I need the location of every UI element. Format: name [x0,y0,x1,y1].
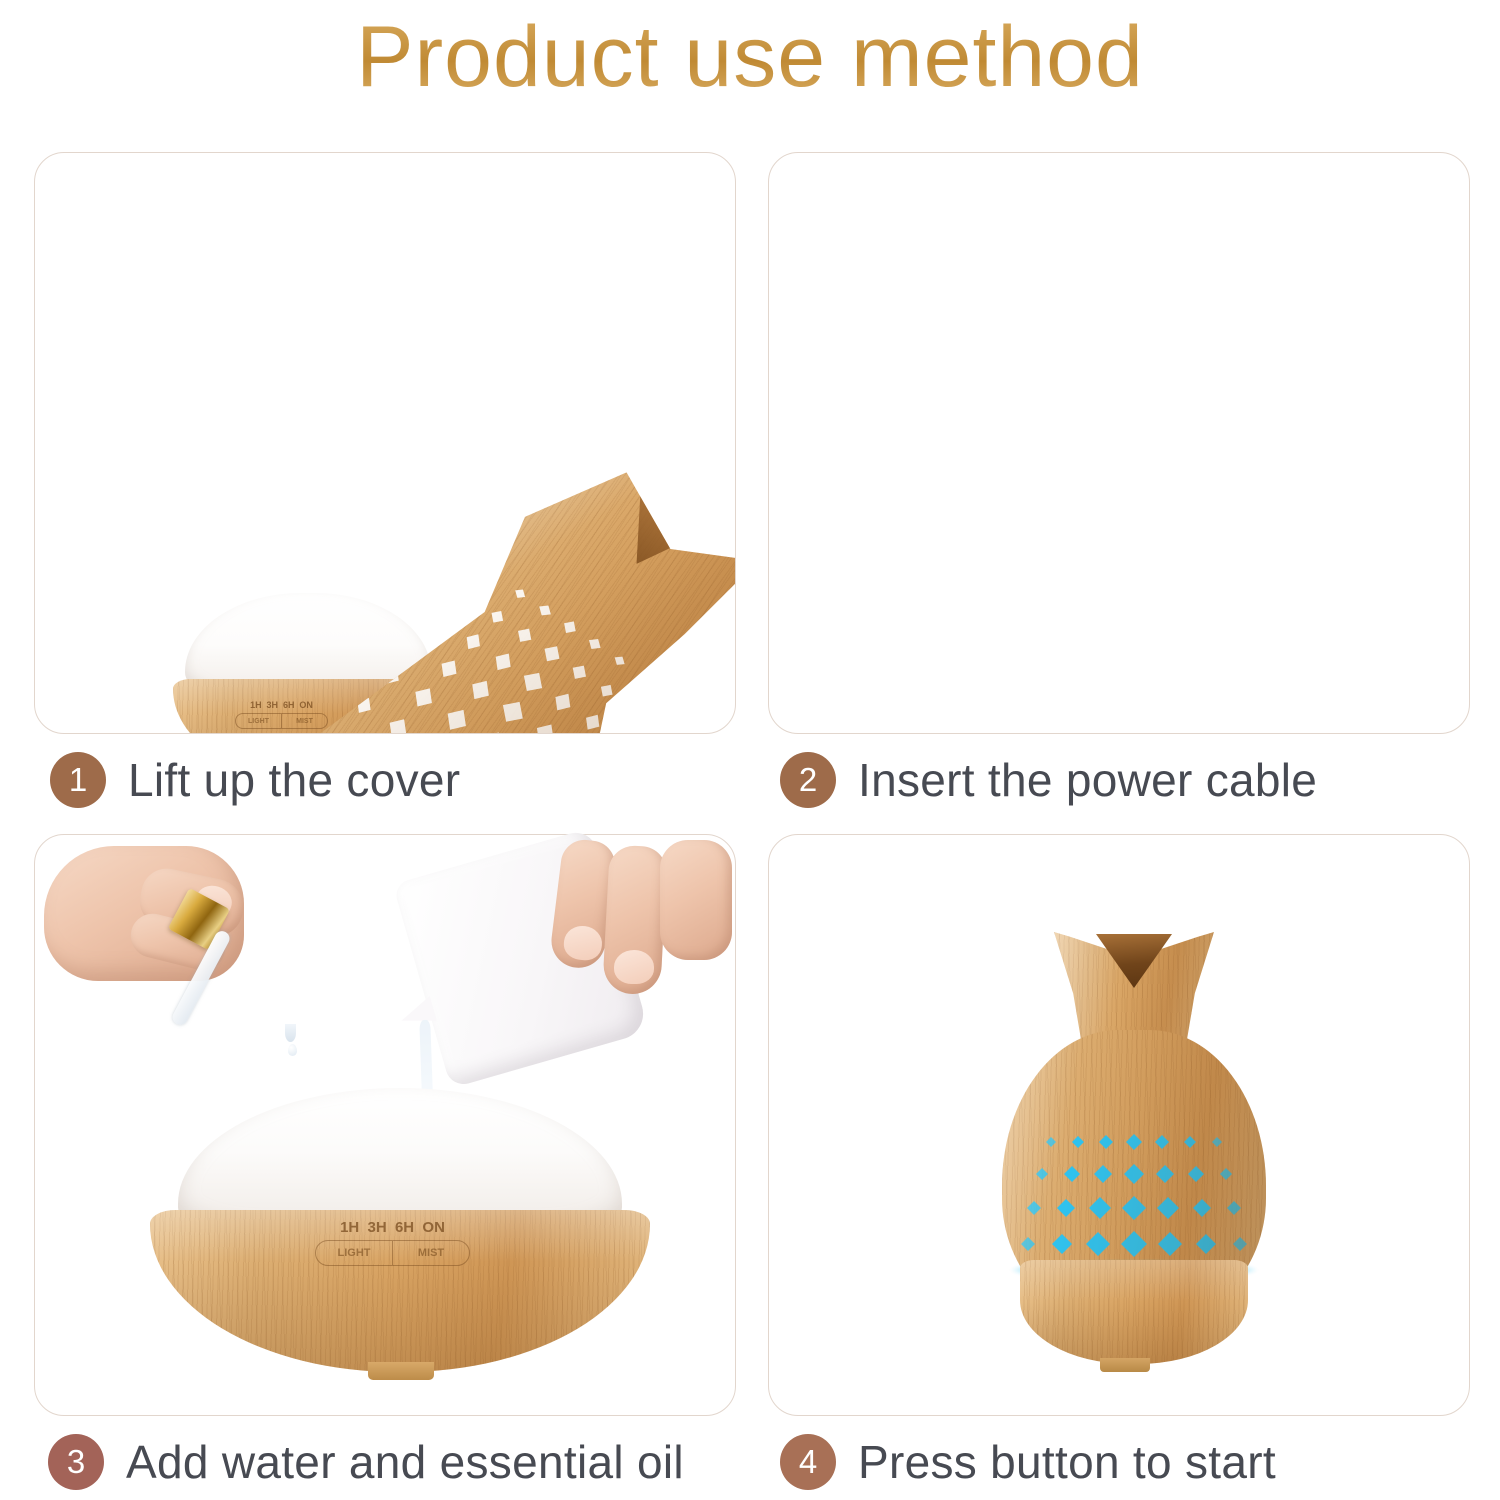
light-button[interactable]: LIGHT [236,714,281,728]
button-group: LIGHT MIST [315,1240,470,1266]
light-button[interactable]: LIGHT [316,1241,392,1265]
step-number-badge-1: 1 [50,752,106,808]
page-title: Product use method [0,14,1500,100]
cover-mouth-notch [604,487,707,586]
step-1-image-panel: 1H 3H 6H ON LIGHT MIST [34,152,736,734]
step-1-caption: 1 Lift up the cover [50,748,460,812]
step-4-caption-text: Press button to start [858,1435,1276,1489]
timer-label-3h: 3H [368,1220,387,1235]
fingernail [614,950,654,984]
timer-label-on: ON [299,701,313,710]
hand-back [660,840,732,960]
step-1-caption-text: Lift up the cover [128,753,460,807]
timer-label-6h: 6H [395,1220,414,1235]
step-3-caption-text: Add water and essential oil [126,1435,684,1489]
timer-label-1h: 1H [250,701,262,710]
vase-diffuser-lit: 1H 3H 6H ON LIGHT MIST [1000,880,1268,1372]
mist-button[interactable]: MIST [392,1241,469,1265]
vase-base: 1H 3H 6H ON LIGHT MIST [1020,1260,1248,1364]
step-2-caption-text: Insert the power cable [858,753,1317,807]
timer-label-row: 1H 3H 6H ON [340,1220,445,1235]
essential-oil-drop [288,1044,297,1056]
diffuser-cover-lifted [304,402,736,734]
step-2-image-panel [768,152,1470,734]
control-panel: 1H 3H 6H ON LIGHT MIST [315,1220,470,1266]
product-use-method-infographic: Product use method 1H 3H 6H ON LIGHT MIS… [0,0,1500,1500]
step-2-caption: 2 Insert the power cable [780,748,1317,812]
dropper-tip [285,1024,296,1042]
power-port-notch [1100,1358,1150,1372]
step-number-badge-2: 2 [780,752,836,808]
timer-label-6h: 6H [283,701,295,710]
step-number-badge-3: 3 [48,1434,104,1490]
step-3-caption: 3 Add water and essential oil [48,1430,684,1494]
timer-label-3h: 3H [267,701,279,710]
step-number-badge-4: 4 [780,1434,836,1490]
timer-label-row: 1H 3H 6H ON [250,701,313,710]
right-hand-holding-cup [556,840,736,1008]
cover-lattice-pattern [304,402,736,734]
timer-label-1h: 1H [340,1220,359,1235]
step-4-caption: 4 Press button to start [780,1430,1276,1494]
diffuser-base-large: 1H 3H 6H ON LIGHT MIST [150,1088,650,1378]
cover-wood-shell [304,402,736,734]
power-port-notch [368,1362,434,1380]
timer-label-on: ON [422,1220,445,1235]
